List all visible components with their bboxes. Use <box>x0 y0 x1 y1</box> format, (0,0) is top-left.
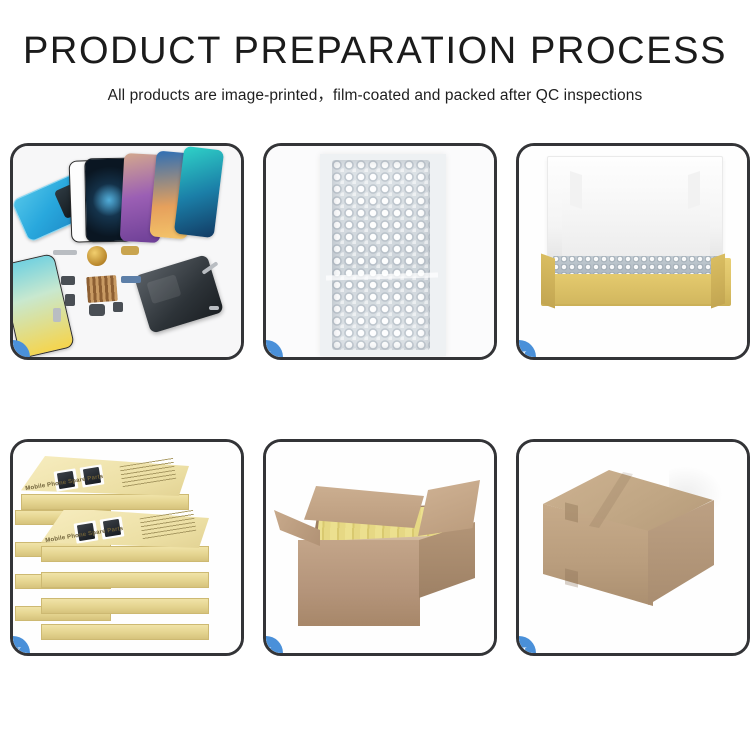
bubble-wrap-texture <box>332 160 430 350</box>
yellow-box-front <box>553 274 719 304</box>
step-panel-5: V <box>263 439 497 656</box>
stacked-box-5 <box>41 624 209 640</box>
stacked-box-3 <box>41 572 209 588</box>
wireless-coil-part <box>87 246 107 266</box>
step-image-bubble-wrap: II <box>266 146 494 357</box>
step-image-stacked-boxes: Mobile Phone Spare Parts Mobile Phone Sp… <box>13 442 241 653</box>
header: PRODUCT PREPARATION PROCESS All products… <box>0 0 750 105</box>
blue-flex-part <box>121 276 141 283</box>
sim-tray-part <box>53 308 61 322</box>
carton-flap-right <box>418 480 480 536</box>
sealed-carton-tape-lower <box>565 568 578 587</box>
flex-cable-part <box>53 250 77 255</box>
step-image-sealed-carton: VI <box>519 442 747 653</box>
lid-tab-right <box>688 171 700 209</box>
carton-front-face <box>298 540 420 626</box>
step-image-carton-filling: V <box>266 442 494 653</box>
step-badge-5: V <box>266 636 283 653</box>
speaker-part <box>89 304 105 316</box>
step-badge-3: III <box>519 340 536 357</box>
steps-grid: I II III <box>10 143 740 743</box>
step-panel-1: I <box>10 143 244 360</box>
yellow-box-left-edge <box>541 253 555 308</box>
step-panel-3: III <box>516 143 750 360</box>
step-badge-6: VI <box>519 636 536 653</box>
screw-part <box>209 306 219 310</box>
product-preparation-infographic: PRODUCT PREPARATION PROCESS All products… <box>0 0 750 750</box>
lid-tab-left <box>570 171 582 209</box>
step-badge-2: II <box>266 340 283 357</box>
chip-array-part <box>86 275 118 303</box>
printed-box-side-1 <box>21 494 189 510</box>
step-panel-2: II <box>263 143 497 360</box>
box-stack: Mobile Phone Spare Parts Mobile Phone Sp… <box>13 442 241 653</box>
gold-connector-part <box>121 246 139 255</box>
sealed-carton-tape-upper <box>565 502 578 522</box>
yellow-box-right-edge <box>711 253 725 308</box>
taptic-part <box>113 302 123 312</box>
page-subtitle: All products are image-printed，film-coat… <box>0 83 750 105</box>
small-module-part <box>61 276 75 285</box>
page-title: PRODUCT PREPARATION PROCESS <box>0 31 750 72</box>
stacked-box-4 <box>41 598 209 614</box>
step-image-inner-box: III <box>519 146 747 357</box>
step-panel-6: VI <box>516 439 750 656</box>
step-panel-4: Mobile Phone Spare Parts Mobile Phone Sp… <box>10 439 244 656</box>
stacked-box-2 <box>41 546 209 562</box>
step-image-products: I <box>13 146 241 357</box>
camera-part <box>65 294 75 306</box>
white-box-lid <box>547 156 723 260</box>
